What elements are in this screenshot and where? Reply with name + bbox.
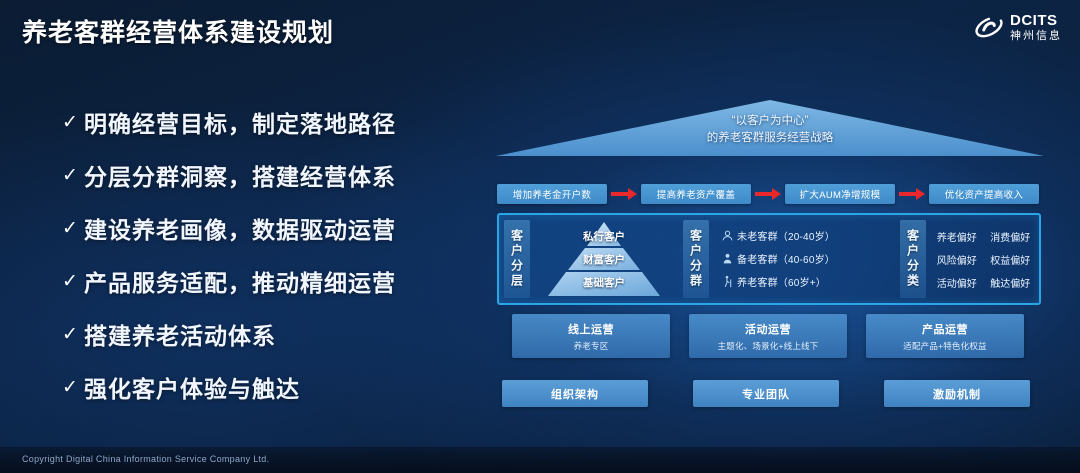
slide-footer: Copyright Digital China Information Serv… — [0, 447, 1080, 473]
operation-subtitle: 主题化、场景化+线上线下 — [718, 340, 819, 352]
foundation-row: 组织架构 专业团队 激励机制 — [502, 380, 1030, 407]
check-icon: ✓ — [62, 270, 84, 293]
operation-title: 活动运营 — [745, 321, 791, 337]
operations-row: 线上运营 养老专区 活动运营 主题化、场景化+线上线下 产品运营 适配产品+特色… — [512, 314, 1024, 358]
tier-label: 客户分层 — [504, 220, 530, 298]
goal-chip[interactable]: 增加养老金开户数 — [497, 184, 607, 204]
check-icon: ✓ — [62, 323, 84, 346]
operation-subtitle: 养老专区 — [574, 340, 609, 352]
group-row-label: 未老客群（20-40岁） — [737, 228, 835, 243]
goal-chip[interactable]: 优化资产提高收入 — [929, 184, 1039, 204]
operation-card[interactable]: 产品运营 适配产品+特色化权益 — [866, 314, 1024, 358]
tier-level-label: 基础客户 — [534, 275, 674, 290]
key-points-list: ✓ 明确经营目标，制定落地路径 ✓ 分层分群洞察，搭建经营体系 ✓ 建设养老画像… — [62, 105, 462, 423]
copyright-text: Copyright Digital China Information Serv… — [22, 454, 269, 464]
arrow-right-icon — [611, 188, 637, 200]
list-item: ✓ 明确经营目标，制定落地路径 — [62, 105, 462, 139]
group-section: 未老客群（20-40岁） 备老客群（40-60岁） — [709, 215, 895, 303]
list-item-label: 强化客户体验与触达 — [84, 370, 300, 404]
customer-panel: 客户分层 — [497, 213, 1041, 305]
group-row-label: 备老客群（40-60岁） — [737, 251, 835, 266]
strategy-diagram: “以客户为中心” 的养老客群服务经营战略 增加养老金开户数 提高养老资产覆盖 扩… — [490, 92, 1050, 432]
operation-card[interactable]: 线上运营 养老专区 — [512, 314, 670, 358]
list-item-label: 分层分群洞察，搭建经营体系 — [84, 158, 396, 192]
operation-title: 线上运营 — [568, 321, 614, 337]
operation-card[interactable]: 活动运营 主题化、场景化+线上线下 — [689, 314, 847, 358]
list-item: 未老客群（20-40岁） — [717, 224, 895, 247]
list-item: ✓ 强化客户体验与触达 — [62, 370, 462, 404]
preference-tag: 风险偏好 — [934, 252, 980, 267]
list-item: ✓ 产品服务适配，推动精细运营 — [62, 264, 462, 298]
group-label: 客户分群 — [683, 220, 709, 298]
foundation-card[interactable]: 组织架构 — [502, 380, 648, 407]
list-item: ✓ 分层分群洞察，搭建经营体系 — [62, 158, 462, 192]
foundation-card[interactable]: 专业团队 — [693, 380, 839, 407]
elder-person-icon — [717, 275, 737, 288]
list-item: ✓ 搭建养老活动体系 — [62, 317, 462, 351]
roof-line-2: 的养老客群服务经营战略 — [496, 130, 1044, 147]
foundation-card[interactable]: 激励机制 — [884, 380, 1030, 407]
check-icon: ✓ — [62, 376, 84, 399]
dcits-swirl-icon — [974, 12, 1004, 42]
list-item-label: 明确经营目标，制定落地路径 — [84, 105, 396, 139]
list-item: ✓ 建设养老画像，数据驱动运营 — [62, 211, 462, 245]
goal-chip[interactable]: 扩大AUM净增规模 — [785, 184, 895, 204]
list-item-label: 搭建养老活动体系 — [84, 317, 276, 351]
tier-pyramid: 私行客户 财富客户 基础客户 — [534, 220, 674, 298]
operation-subtitle: 适配产品+特色化权益 — [903, 340, 986, 352]
group-row-label: 养老客群（60岁+） — [737, 274, 826, 289]
tier-level-label: 财富客户 — [534, 252, 674, 267]
operation-title: 产品运营 — [922, 321, 968, 337]
list-item-label: 建设养老画像，数据驱动运营 — [84, 211, 396, 245]
tier-section: 私行客户 财富客户 基础客户 — [530, 215, 678, 303]
page-title: 养老客群经营体系建设规划 — [22, 13, 334, 49]
logo-text-en: DCITS — [1010, 13, 1062, 28]
check-icon: ✓ — [62, 217, 84, 240]
tier-level-label: 私行客户 — [534, 229, 674, 244]
arrow-right-icon — [899, 188, 925, 200]
preference-tag: 触达偏好 — [988, 275, 1034, 290]
roof-label: “以客户为中心” 的养老客群服务经营战略 — [496, 113, 1044, 147]
classification-section: 养老偏好 消费偏好 风险偏好 权益偏好 活动偏好 触达偏好 — [926, 215, 1039, 303]
preference-tag: 权益偏好 — [988, 252, 1034, 267]
arrow-right-icon — [755, 188, 781, 200]
list-item: 养老客群（60岁+） — [717, 270, 895, 293]
strategy-roof: “以客户为中心” 的养老客群服务经营战略 — [496, 92, 1044, 162]
preference-tag: 消费偏好 — [988, 229, 1034, 244]
classification-label: 客户分类 — [900, 220, 926, 298]
group-list: 未老客群（20-40岁） 备老客群（40-60岁） — [709, 215, 895, 293]
young-person-icon — [717, 229, 737, 242]
check-icon: ✓ — [62, 111, 84, 134]
goal-chip[interactable]: 提高养老资产覆盖 — [641, 184, 751, 204]
preference-tag: 养老偏好 — [934, 229, 980, 244]
preference-tag: 活动偏好 — [934, 275, 980, 290]
slide-header: 养老客群经营体系建设规划 DCITS 神州信息 — [0, 0, 1080, 55]
brand-logo: DCITS 神州信息 — [974, 12, 1062, 42]
logo-text-cn: 神州信息 — [1010, 31, 1062, 42]
classification-grid: 养老偏好 消费偏好 风险偏好 权益偏好 活动偏好 触达偏好 — [926, 215, 1039, 294]
list-item-label: 产品服务适配，推动精细运营 — [84, 264, 396, 298]
check-icon: ✓ — [62, 164, 84, 187]
list-item: 备老客群（40-60岁） — [717, 247, 895, 270]
goal-chain: 增加养老金开户数 提高养老资产覆盖 扩大AUM净增规模 优化资产提高收入 — [497, 184, 1039, 204]
roof-line-1: “以客户为中心” — [496, 113, 1044, 130]
adult-person-icon — [717, 252, 737, 265]
